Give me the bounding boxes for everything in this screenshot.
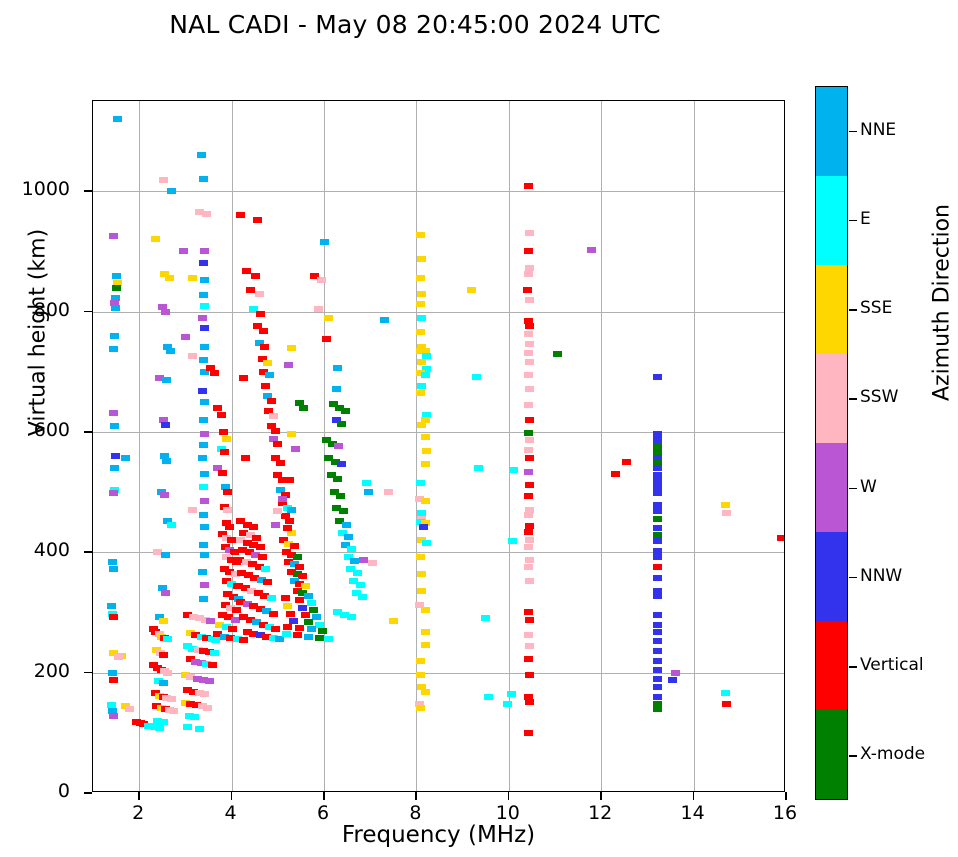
data-point xyxy=(200,552,209,558)
data-point xyxy=(269,611,278,617)
scatter-canvas xyxy=(93,101,784,791)
data-point xyxy=(109,566,118,572)
data-point xyxy=(263,579,272,585)
data-point xyxy=(183,724,192,730)
colorbar-tick xyxy=(849,755,857,757)
data-point xyxy=(109,410,118,416)
data-point xyxy=(653,593,662,599)
data-point xyxy=(422,448,431,454)
data-point xyxy=(261,566,270,572)
data-point xyxy=(358,594,367,600)
data-point xyxy=(524,271,533,277)
data-point xyxy=(236,212,245,218)
data-point xyxy=(668,677,677,683)
data-point xyxy=(421,372,430,378)
data-point xyxy=(200,582,209,588)
data-point xyxy=(112,273,121,279)
data-point xyxy=(416,390,425,396)
x-axis-label: Frequency (MHz) xyxy=(92,822,785,848)
data-point xyxy=(525,617,534,623)
data-point xyxy=(249,524,258,530)
data-point xyxy=(199,442,208,448)
data-point xyxy=(722,701,731,707)
data-point xyxy=(524,730,533,736)
data-point xyxy=(525,699,534,705)
colorbar-label-nne: NNE xyxy=(860,120,896,140)
data-point xyxy=(112,285,121,291)
data-point xyxy=(524,372,533,378)
y-axis-tick-label: 1000 xyxy=(18,178,70,200)
data-point xyxy=(671,670,680,676)
data-point xyxy=(611,471,620,477)
data-point xyxy=(524,564,533,570)
data-point xyxy=(525,578,534,584)
data-point xyxy=(525,359,534,365)
data-point xyxy=(653,667,662,673)
colorbar-tick xyxy=(849,220,857,222)
colorbar-segment-nnw[interactable] xyxy=(816,532,847,621)
data-point xyxy=(317,277,326,283)
x-axis-tick xyxy=(138,792,140,800)
data-point xyxy=(653,622,662,628)
data-point xyxy=(159,177,168,183)
data-point xyxy=(167,522,176,528)
data-point xyxy=(416,232,425,238)
colorbar-label-ssw: SSW xyxy=(860,387,898,407)
gridline-vertical xyxy=(694,101,695,791)
data-point xyxy=(653,490,662,496)
data-point xyxy=(198,315,207,321)
data-point xyxy=(256,544,265,550)
colorbar-segment-nne[interactable] xyxy=(816,87,847,176)
data-point xyxy=(232,607,241,613)
data-point xyxy=(195,726,204,732)
data-point xyxy=(304,593,313,599)
x-axis-tick-label: 10 xyxy=(478,802,538,824)
data-point xyxy=(298,573,307,579)
data-point xyxy=(283,525,292,531)
data-point xyxy=(419,524,428,530)
data-point xyxy=(271,522,280,528)
data-point xyxy=(242,268,251,274)
data-point xyxy=(161,422,170,428)
data-point xyxy=(281,595,290,601)
data-point xyxy=(160,492,169,498)
data-point xyxy=(159,618,168,624)
data-point xyxy=(622,459,631,465)
colorbar-label-w: W xyxy=(860,477,877,497)
data-point xyxy=(200,303,209,309)
data-point xyxy=(334,443,343,449)
x-axis-tick-label: 12 xyxy=(570,802,630,824)
data-point xyxy=(111,305,120,311)
data-point xyxy=(200,277,209,283)
data-point xyxy=(356,582,365,588)
y-axis-tick-label: 400 xyxy=(18,539,70,561)
gridline-vertical xyxy=(139,101,140,791)
data-point xyxy=(282,631,291,637)
data-point xyxy=(417,315,426,321)
data-point xyxy=(299,405,308,411)
data-point xyxy=(380,317,389,323)
data-point xyxy=(218,470,227,476)
data-point xyxy=(472,374,481,380)
y-axis-tick xyxy=(84,672,92,674)
data-point xyxy=(198,569,207,575)
data-point xyxy=(198,388,207,394)
data-point xyxy=(241,455,250,461)
data-point xyxy=(416,705,425,711)
colorbar-segment-e[interactable] xyxy=(816,176,847,265)
colorbar-segment-x-mode[interactable] xyxy=(816,710,847,799)
data-point xyxy=(251,273,260,279)
y-axis-tick xyxy=(84,431,92,433)
data-point xyxy=(364,489,373,495)
data-point xyxy=(213,405,222,411)
data-point xyxy=(653,575,662,581)
data-point xyxy=(110,423,119,429)
data-point xyxy=(301,612,310,618)
x-axis-tick-label: 8 xyxy=(385,802,445,824)
data-point xyxy=(202,211,211,217)
data-point xyxy=(653,706,662,712)
data-point xyxy=(258,554,267,560)
data-point xyxy=(553,351,562,357)
data-point xyxy=(167,188,176,194)
data-point xyxy=(524,402,533,408)
data-point xyxy=(159,652,168,658)
colorbar-tick xyxy=(849,666,857,668)
data-point xyxy=(110,333,119,339)
data-point xyxy=(225,524,234,530)
data-point xyxy=(417,359,426,365)
data-point xyxy=(524,469,533,475)
data-point xyxy=(653,648,662,654)
x-axis-tick xyxy=(600,792,602,800)
data-point xyxy=(324,315,333,321)
data-point xyxy=(113,116,122,122)
data-point xyxy=(416,658,425,664)
data-point xyxy=(295,625,304,631)
data-point xyxy=(333,365,342,371)
data-point xyxy=(777,535,785,541)
x-axis-tick xyxy=(231,792,233,800)
data-point xyxy=(509,467,518,473)
data-point xyxy=(109,713,118,719)
data-point xyxy=(109,614,118,620)
data-point xyxy=(307,600,316,606)
data-point xyxy=(287,431,296,437)
data-point xyxy=(339,508,348,514)
data-point xyxy=(422,540,431,546)
data-point xyxy=(287,507,296,513)
data-point xyxy=(481,615,490,621)
data-point xyxy=(179,248,188,254)
data-point xyxy=(203,705,212,711)
data-point xyxy=(163,636,172,642)
data-point xyxy=(389,618,398,624)
data-point xyxy=(525,341,534,347)
data-point xyxy=(309,607,318,613)
gridline-horizontal xyxy=(93,552,784,553)
data-point xyxy=(298,605,307,611)
data-point xyxy=(417,588,426,594)
data-point xyxy=(359,557,368,563)
y-axis-tick xyxy=(84,311,92,313)
x-axis-tick-label: 16 xyxy=(755,802,815,824)
data-point xyxy=(109,233,118,239)
data-point xyxy=(307,626,316,632)
data-point xyxy=(259,328,268,334)
colorbar-tick xyxy=(849,488,857,490)
data-point xyxy=(200,498,209,504)
data-point xyxy=(416,301,425,307)
data-point xyxy=(246,287,255,293)
data-point xyxy=(261,383,270,389)
data-point xyxy=(653,554,662,560)
data-point xyxy=(653,676,662,682)
x-axis-tick-label: 4 xyxy=(201,802,261,824)
y-axis-tick-label: 0 xyxy=(18,780,70,802)
data-point xyxy=(416,554,425,560)
data-point xyxy=(721,690,730,696)
x-axis-tick-label: 6 xyxy=(293,802,353,824)
colorbar-title: Azimuth Direction xyxy=(930,133,955,473)
colorbar-tick xyxy=(849,309,857,311)
data-point xyxy=(239,375,248,381)
data-point xyxy=(199,417,208,423)
data-point xyxy=(285,477,294,483)
data-point xyxy=(200,399,209,405)
data-point xyxy=(524,248,533,254)
data-point xyxy=(337,461,346,467)
colorbar-tick xyxy=(849,131,857,133)
data-point xyxy=(200,524,209,530)
data-point xyxy=(416,672,425,678)
data-point xyxy=(416,480,425,486)
y-axis-tick xyxy=(84,551,92,553)
y-axis-tick-label: 200 xyxy=(18,660,70,682)
data-point xyxy=(161,309,170,315)
data-point xyxy=(417,422,426,428)
data-point xyxy=(255,291,264,297)
data-point xyxy=(293,632,302,638)
gridline-horizontal xyxy=(93,312,784,313)
data-point xyxy=(417,291,426,297)
data-point xyxy=(210,650,219,656)
data-point xyxy=(284,362,293,368)
data-point xyxy=(181,334,190,340)
data-point xyxy=(336,493,345,499)
data-point xyxy=(524,512,533,518)
data-point xyxy=(525,643,534,649)
data-point xyxy=(421,642,430,648)
data-point xyxy=(206,618,215,624)
data-point xyxy=(291,446,300,452)
data-point xyxy=(239,637,248,643)
data-point xyxy=(162,377,171,383)
data-point xyxy=(114,654,123,660)
data-point xyxy=(525,323,534,329)
gridline-horizontal xyxy=(93,432,784,433)
colorbar-segment-vertical[interactable] xyxy=(816,621,847,710)
data-point xyxy=(524,544,533,550)
data-point xyxy=(474,465,483,471)
data-point xyxy=(347,546,356,552)
data-point xyxy=(653,684,662,690)
data-point xyxy=(653,525,662,531)
data-point xyxy=(199,357,208,363)
data-point xyxy=(417,383,426,389)
data-point xyxy=(125,706,134,712)
plot-area[interactable] xyxy=(92,100,785,792)
data-point xyxy=(524,632,533,638)
data-point xyxy=(210,370,219,376)
data-point xyxy=(190,714,199,720)
data-point xyxy=(421,629,430,635)
data-point xyxy=(653,564,662,570)
data-point xyxy=(161,590,170,596)
data-point xyxy=(350,558,359,564)
data-point xyxy=(109,490,118,496)
data-point xyxy=(188,275,197,281)
data-point xyxy=(199,542,208,548)
data-point xyxy=(109,346,118,352)
y-axis-tick-label: 600 xyxy=(18,419,70,441)
data-point xyxy=(200,344,209,350)
data-point xyxy=(252,535,261,541)
data-point xyxy=(318,628,327,634)
data-point xyxy=(267,595,276,601)
data-point xyxy=(653,694,662,700)
x-axis-tick xyxy=(508,792,510,800)
data-point xyxy=(110,465,119,471)
data-point xyxy=(200,431,209,437)
data-point xyxy=(503,701,512,707)
data-point xyxy=(200,691,209,697)
gridline-vertical xyxy=(324,101,325,791)
data-point xyxy=(290,543,299,549)
y-axis-tick-label: 800 xyxy=(18,299,70,321)
data-point xyxy=(197,152,206,158)
data-point xyxy=(188,353,197,359)
y-axis-tick xyxy=(84,190,92,192)
data-point xyxy=(312,614,321,620)
colorbar-segment-w[interactable] xyxy=(816,443,847,532)
data-point xyxy=(315,635,324,641)
gridline-horizontal xyxy=(93,673,784,674)
data-point xyxy=(163,670,172,676)
data-point xyxy=(108,559,117,565)
data-point xyxy=(653,629,662,635)
data-point xyxy=(337,421,346,427)
data-point xyxy=(341,408,350,414)
data-point xyxy=(198,455,207,461)
data-point xyxy=(283,603,292,609)
y-axis-tick xyxy=(84,792,92,794)
data-point xyxy=(285,518,294,524)
data-point xyxy=(508,538,517,544)
data-point xyxy=(217,412,226,418)
data-point xyxy=(320,239,329,245)
data-point xyxy=(304,634,313,640)
data-point xyxy=(223,507,232,513)
data-point xyxy=(199,512,208,518)
data-point xyxy=(200,325,209,331)
data-point xyxy=(253,217,262,223)
data-point xyxy=(421,498,430,504)
data-point xyxy=(342,522,351,528)
data-point xyxy=(265,372,274,378)
data-point xyxy=(722,510,731,516)
data-point xyxy=(384,489,393,495)
data-point xyxy=(167,696,176,702)
data-point xyxy=(205,678,214,684)
data-point xyxy=(223,489,232,495)
colorbar-label-e: E xyxy=(860,209,871,229)
data-point xyxy=(525,230,534,236)
x-axis-tick xyxy=(323,792,325,800)
data-point xyxy=(416,329,425,335)
colorbar-tick xyxy=(849,577,857,579)
ionogram-figure: NAL CADI - May 08 20:45:00 2024 UTC Virt… xyxy=(0,0,958,857)
data-point xyxy=(421,461,430,467)
data-point xyxy=(111,453,120,459)
data-point xyxy=(301,583,310,589)
data-point xyxy=(314,306,323,312)
x-axis-tick xyxy=(693,792,695,800)
data-point xyxy=(653,538,662,544)
data-point xyxy=(524,493,533,499)
data-point xyxy=(721,502,730,508)
data-point xyxy=(653,638,662,644)
data-point xyxy=(368,560,377,566)
data-point xyxy=(525,537,534,543)
page-title: NAL CADI - May 08 20:45:00 2024 UTC xyxy=(0,10,830,39)
data-point xyxy=(362,480,371,486)
data-point xyxy=(271,428,280,434)
data-point xyxy=(524,609,533,615)
data-point xyxy=(416,275,425,281)
data-point xyxy=(524,350,533,356)
data-point xyxy=(228,626,237,632)
colorbar-segment-sse[interactable] xyxy=(816,265,847,354)
data-point xyxy=(653,658,662,664)
data-point xyxy=(525,455,534,461)
data-point xyxy=(200,471,209,477)
data-point xyxy=(107,603,116,609)
data-point xyxy=(199,484,208,490)
data-point xyxy=(523,287,532,293)
data-point xyxy=(273,508,282,514)
data-point xyxy=(344,534,353,540)
colorbar[interactable] xyxy=(815,86,848,800)
data-point xyxy=(256,311,265,317)
colorbar-label-x-mode: X-mode xyxy=(860,744,925,764)
data-point xyxy=(353,570,362,576)
data-point xyxy=(525,672,534,678)
data-point xyxy=(286,611,295,617)
data-point xyxy=(417,256,426,262)
data-point xyxy=(525,557,534,563)
data-point xyxy=(484,694,493,700)
data-point xyxy=(417,571,426,577)
data-point xyxy=(260,344,269,350)
gridline-horizontal xyxy=(93,191,784,192)
colorbar-segment-ssw[interactable] xyxy=(816,354,847,443)
data-point xyxy=(151,236,160,242)
data-point xyxy=(278,496,287,502)
